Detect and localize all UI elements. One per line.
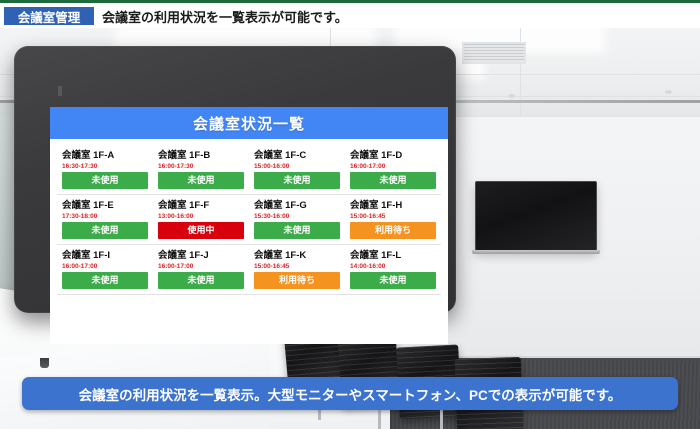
ceiling-downlight <box>508 94 515 98</box>
room-time-range: 15:30-16:00 <box>254 212 340 221</box>
ceiling-air-vent <box>462 42 526 64</box>
room-name: 会議室 1F-A <box>62 149 148 162</box>
room-name: 会議室 1F-F <box>158 199 244 212</box>
room-status-badge[interactable]: 未使用 <box>350 172 436 189</box>
page-header: 会議室管理 会議室の利用状況を一覧表示が可能です。 <box>0 3 700 28</box>
room-time-range: 13:00-16:00 <box>158 212 244 221</box>
room-card[interactable]: 会議室 1F-D16:00-17:00未使用 <box>345 149 441 189</box>
monitor-stem <box>58 86 62 96</box>
ceiling-downlight <box>665 90 672 94</box>
room-time-range: 16:00-17:00 <box>350 162 436 171</box>
room-row: 会議室 1F-E17:30-18:00未使用会議室 1F-F13:00-16:0… <box>57 199 441 245</box>
room-time-range: 17:30-18:00 <box>62 212 148 221</box>
room-name: 会議室 1F-L <box>350 249 436 262</box>
wall-mounted-tv <box>475 181 597 251</box>
room-name: 会議室 1F-G <box>254 199 340 212</box>
room-card[interactable]: 会議室 1F-E17:30-18:00未使用 <box>57 199 153 239</box>
room-time-range: 16:00-17:00 <box>158 262 244 271</box>
chair-leg <box>440 410 443 429</box>
header-tagline: 会議室の利用状況を一覧表示が可能です。 <box>102 7 348 25</box>
room-card[interactable]: 会議室 1F-J16:00-17:00未使用 <box>153 249 249 289</box>
panel-title: 会議室状況一覧 <box>50 107 448 139</box>
room-row: 会議室 1F-A16:30-17:30未使用会議室 1F-B16:00-17:3… <box>57 149 441 195</box>
room-time-range: 16:30-17:30 <box>62 162 148 171</box>
room-name: 会議室 1F-J <box>158 249 244 262</box>
room-status-badge[interactable]: 未使用 <box>254 172 340 189</box>
room-status-badge[interactable]: 未使用 <box>62 172 148 189</box>
room-time-range: 15:00-16:45 <box>254 262 340 271</box>
room-name: 会議室 1F-K <box>254 249 340 262</box>
room-status-badge[interactable]: 未使用 <box>254 222 340 239</box>
room-card[interactable]: 会議室 1F-K15:00-16:45利用待ち <box>249 249 345 289</box>
room-name: 会議室 1F-E <box>62 199 148 212</box>
room-status-badge[interactable]: 未使用 <box>62 222 148 239</box>
room-time-range: 15:00-16:45 <box>350 212 436 221</box>
monitor-screen: 会議室状況一覧 会議室 1F-A16:30-17:30未使用会議室 1F-B16… <box>50 107 448 344</box>
room-card[interactable]: 会議室 1F-C15:00-16:00未使用 <box>249 149 345 189</box>
room-grid: 会議室 1F-A16:30-17:30未使用会議室 1F-B16:00-17:3… <box>50 139 448 295</box>
room-status-badge[interactable]: 利用待ち <box>350 222 436 239</box>
room-row: 会議室 1F-I16:00-17:00未使用会議室 1F-J16:00-17:0… <box>57 249 441 295</box>
room-card[interactable]: 会議室 1F-F13:00-16:00使用中 <box>153 199 249 239</box>
room-status-badge[interactable]: 未使用 <box>350 272 436 289</box>
room-time-range: 16:00-17:00 <box>62 262 148 271</box>
display-monitor: 会議室状況一覧 会議室 1F-A16:30-17:30未使用会議室 1F-B16… <box>14 46 456 313</box>
room-time-range: 15:00-16:00 <box>254 162 340 171</box>
room-name: 会議室 1F-C <box>254 149 340 162</box>
room-card[interactable]: 会議室 1F-A16:30-17:30未使用 <box>57 149 153 189</box>
room-card[interactable]: 会議室 1F-L14:00-16:00未使用 <box>345 249 441 289</box>
header-tag-label: 会議室管理 <box>4 7 94 25</box>
room-card[interactable]: 会議室 1F-H15:00-16:45利用待ち <box>345 199 441 239</box>
room-name: 会議室 1F-H <box>350 199 436 212</box>
room-status-badge[interactable]: 利用待ち <box>254 272 340 289</box>
monitor-foot <box>40 358 49 368</box>
room-status-badge[interactable]: 使用中 <box>158 222 244 239</box>
room-name: 会議室 1F-B <box>158 149 244 162</box>
room-status-badge[interactable]: 未使用 <box>158 172 244 189</box>
room-name: 会議室 1F-D <box>350 149 436 162</box>
room-time-range: 16:00-17:30 <box>158 162 244 171</box>
tv-mount-bar <box>472 250 600 254</box>
room-status-badge[interactable]: 未使用 <box>62 272 148 289</box>
room-status-badge[interactable]: 未使用 <box>158 272 244 289</box>
room-card[interactable]: 会議室 1F-G15:30-16:00未使用 <box>249 199 345 239</box>
room-name: 会議室 1F-I <box>62 249 148 262</box>
room-card[interactable]: 会議室 1F-B16:00-17:30未使用 <box>153 149 249 189</box>
room-time-range: 14:00-16:00 <box>350 262 436 271</box>
bottom-banner: 会議室の利用状況を一覧表示。大型モニターやスマートフォン、PCでの表示が可能です… <box>22 377 678 410</box>
room-card[interactable]: 会議室 1F-I16:00-17:00未使用 <box>57 249 153 289</box>
